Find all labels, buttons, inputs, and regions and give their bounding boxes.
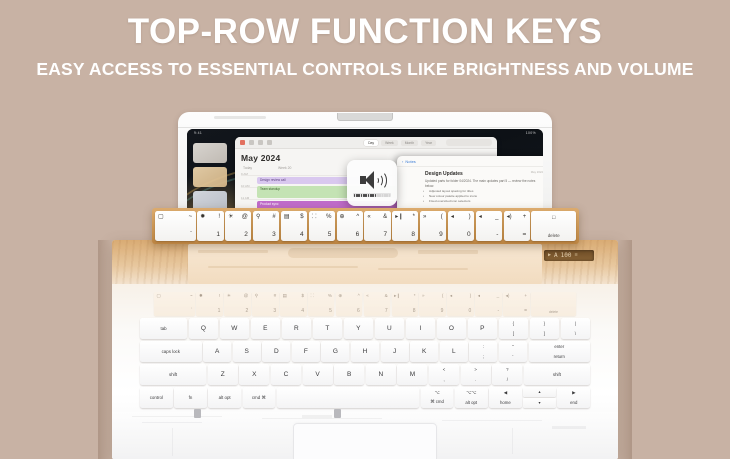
- key-k[interactable]: K: [410, 341, 438, 362]
- tablet-hinge: [337, 113, 393, 121]
- key-label: tab: [160, 326, 166, 331]
- volume-hud-overlay: [347, 160, 397, 206]
- fn-key-primary: 3: [272, 232, 276, 239]
- key-label: O: [449, 325, 454, 332]
- key-h[interactable]: H: [351, 341, 379, 362]
- key-label: P: [480, 325, 484, 332]
- battery-icon: ▶: [548, 253, 551, 258]
- key-y[interactable]: Y: [344, 318, 373, 339]
- fn-key-shifted: !: [218, 214, 220, 220]
- fn-key-esc[interactable]: ▢~`: [155, 211, 196, 241]
- notes-back-label[interactable]: Notes: [405, 159, 415, 164]
- fn-key-reflection-delete: delete: [531, 292, 576, 316]
- keyboard-deck-inner: [188, 244, 542, 284]
- key-label: alt opt: [219, 395, 231, 400]
- home-widget[interactable]: [193, 143, 227, 163]
- keyboard-base: ▶ A 100 ≡ ▢~`✹!1☀@2⚲#3▤$4⸬%5⊕^6«&7▸❙*8»(…: [112, 240, 618, 459]
- key-label: U: [387, 325, 392, 332]
- key-shifted-label: }: [530, 321, 559, 326]
- add-event-icon[interactable]: [267, 140, 272, 145]
- fn-key-reflection-spotlight: ⚲#3: [252, 292, 278, 316]
- fn-key-primary: =: [523, 232, 527, 239]
- key-v[interactable]: V: [303, 364, 333, 385]
- key-i[interactable]: I: [406, 318, 435, 339]
- keyboard-row-shift[interactable]: shiftZXCVBNM<,>.?/shift: [140, 364, 590, 385]
- key-p[interactable]: P: [468, 318, 497, 339]
- key-u[interactable]: U: [375, 318, 404, 339]
- key-label: Y: [356, 325, 360, 332]
- fn-key-shifted: ^: [356, 214, 359, 220]
- lcd-mode: A: [554, 253, 558, 259]
- brightness-high-icon: ☀: [228, 214, 233, 220]
- speaker-mute-icon: ◂: [451, 214, 454, 220]
- calendar-toolbar: Day Week Month Year: [235, 137, 497, 149]
- key-fn[interactable]: fn: [174, 387, 207, 408]
- fn-key-primary: 0: [467, 232, 471, 239]
- fn-key-play-pause[interactable]: ▸❙*8: [392, 211, 418, 241]
- key-primary-label: .: [461, 377, 491, 382]
- tab-month[interactable]: Month: [401, 140, 418, 146]
- tab-day[interactable]: Day: [364, 140, 378, 146]
- search-icon: ⚲: [256, 214, 260, 220]
- key--[interactable]: <,: [429, 364, 459, 385]
- arrow-key-cluster[interactable]: ▲▼: [523, 387, 556, 408]
- keyboard-internals: [112, 412, 618, 459]
- key-d[interactable]: D: [262, 341, 290, 362]
- page-subtitle: EASY ACCESS TO ESSENTIAL CONTROLS LIKE B…: [0, 58, 730, 80]
- deck-detail: [188, 244, 542, 284]
- key--[interactable]: ?/: [492, 364, 522, 385]
- fn-key-reflection-dictation: ⸬%5: [308, 292, 334, 316]
- microphone-icon: ⸬: [312, 214, 317, 220]
- key-label: M: [410, 371, 415, 378]
- key-shifted-label: {: [499, 321, 528, 326]
- key-label: R: [294, 325, 299, 332]
- key--[interactable]: {[: [499, 318, 528, 339]
- keyboard-row-home[interactable]: caps lockASDFGHJKL:;"'enterreturn: [140, 341, 590, 362]
- key-shifted-label: <: [429, 367, 459, 372]
- key-label: K: [422, 348, 426, 355]
- key--[interactable]: }]: [530, 318, 559, 339]
- key-x[interactable]: X: [239, 364, 269, 385]
- display-mirror-icon: ▢: [158, 214, 164, 220]
- volume-segment: [386, 194, 388, 197]
- list-view-icon[interactable]: [258, 140, 263, 145]
- notes-bullet: Fixed oversized icon selectors: [397, 199, 543, 204]
- key-primary-label: ,: [429, 377, 459, 382]
- key-t[interactable]: T: [313, 318, 342, 339]
- brightness-low-icon: ✹: [200, 214, 205, 220]
- volume-up-icon: ◂): [507, 214, 512, 220]
- key-label: cmd ⌘: [252, 395, 266, 401]
- key-label: A: [215, 348, 219, 355]
- key-label: caps lock: [162, 349, 180, 354]
- fn-key-reflection-previous-track: «&7: [364, 292, 390, 316]
- rewind-icon: «: [367, 214, 370, 220]
- fn-key-label: delete: [531, 233, 576, 238]
- key-control[interactable]: control: [140, 387, 173, 408]
- key-a[interactable]: A: [203, 341, 231, 362]
- fn-key-shifted: +: [523, 214, 527, 220]
- home-widget[interactable]: [193, 167, 227, 187]
- fn-key-brightness-up[interactable]: ☀@2: [225, 211, 251, 241]
- fn-key-shifted: (: [441, 214, 443, 220]
- key-label: fn: [189, 395, 193, 400]
- fn-key-primary: 6: [356, 232, 360, 239]
- calendar-app-icon[interactable]: [240, 140, 245, 145]
- menu-icon: ≡: [574, 253, 577, 258]
- fn-key-brightness-down[interactable]: ✹!1: [197, 211, 223, 241]
- fn-key-primary: 1: [216, 232, 220, 239]
- key-return[interactable]: enterreturn: [529, 341, 591, 362]
- key-shifted-label: ": [499, 344, 527, 349]
- notes-toolbar: ‹ Notes: [397, 156, 543, 167]
- key-end[interactable]: ▶end: [557, 387, 590, 408]
- key-b[interactable]: B: [334, 364, 364, 385]
- calendar-view-tabs[interactable]: Day Week Month Year: [364, 140, 436, 146]
- key-primary-label: [: [499, 331, 528, 336]
- fn-key-primary: 2: [244, 232, 248, 239]
- key-label: L: [452, 348, 456, 355]
- fn-key-primary: 4: [300, 232, 304, 239]
- key-tab[interactable]: tab: [140, 318, 187, 339]
- key-label: B: [347, 371, 351, 378]
- key--[interactable]: >.: [461, 364, 491, 385]
- key-label: V: [315, 371, 319, 378]
- key-r[interactable]: R: [282, 318, 311, 339]
- key--[interactable]: "': [499, 341, 527, 362]
- key-home[interactable]: ◀home: [489, 387, 522, 408]
- fn-key-reflection-next-track: »(9: [419, 292, 445, 316]
- fn-key-delete[interactable]: □delete: [531, 211, 576, 241]
- volume-segment: [389, 194, 391, 197]
- fn-key-primary: 8: [411, 232, 415, 239]
- back-chevron-icon[interactable]: ‹: [402, 159, 403, 164]
- key-g[interactable]: G: [321, 341, 349, 362]
- key-c[interactable]: C: [271, 364, 301, 385]
- calendar-sub-mid: Week 20: [278, 166, 291, 170]
- key-key[interactable]: [277, 387, 420, 408]
- key-shifted-label: :: [469, 344, 497, 349]
- key-primary-label: ;: [469, 354, 497, 359]
- calendar-hour-label: 10 AM: [241, 184, 250, 188]
- key-alt-opt[interactable]: ⌥⌥alt opt: [455, 387, 488, 408]
- key--[interactable]: :;: [469, 341, 497, 362]
- status-bar: 9:41 100%: [187, 129, 543, 137]
- key-label: shift: [553, 372, 561, 377]
- key-label: D: [274, 348, 279, 355]
- volume-level-bar: [353, 193, 391, 197]
- fn-key-previous-track[interactable]: «&7: [364, 211, 390, 241]
- key-m[interactable]: M: [397, 364, 427, 385]
- fn-key-shifted: #: [272, 214, 275, 220]
- key-w[interactable]: W: [220, 318, 249, 339]
- key-s[interactable]: S: [233, 341, 261, 362]
- key-shifted-label: |: [561, 321, 590, 326]
- fn-key-shifted: _: [495, 214, 498, 220]
- key-primary-label: end: [557, 400, 590, 405]
- hinge-nub: [334, 409, 341, 418]
- fn-key-mute[interactable]: ◂)0: [448, 211, 474, 241]
- tab-year[interactable]: Year: [421, 140, 436, 146]
- key--cmd[interactable]: ⌥⌘ cmd: [421, 387, 454, 408]
- base-shadow-left: [98, 240, 112, 459]
- trackpad[interactable]: [294, 424, 436, 459]
- keyboard-icon: ▤: [284, 214, 290, 220]
- key-f[interactable]: F: [292, 341, 320, 362]
- keyboard-row-qwerty[interactable]: tabQWERTYUIOP{[}]|\: [140, 318, 590, 339]
- tab-week[interactable]: Week: [381, 140, 398, 146]
- key-label: Q: [201, 325, 206, 332]
- fn-key-shifted: ): [469, 214, 471, 220]
- sidebar-toggle-icon[interactable]: [249, 140, 254, 145]
- tablet-edge-detail: [214, 116, 266, 119]
- key-n[interactable]: N: [366, 364, 396, 385]
- key-primary-label: ⌘ cmd: [421, 399, 454, 405]
- fn-key-reflection-esc: ▢~`: [154, 292, 195, 316]
- key-shifted-label: >: [461, 367, 491, 372]
- key-label: N: [378, 371, 383, 378]
- key-shift[interactable]: shift: [140, 364, 206, 385]
- key-cmd-[interactable]: cmd ⌘: [243, 387, 276, 408]
- volume-segment: [372, 194, 374, 197]
- calendar-hour-label: 9 AM: [241, 172, 248, 176]
- fn-key-shifted: ~: [189, 214, 193, 220]
- key-o[interactable]: O: [437, 318, 466, 339]
- status-battery: 100%: [526, 131, 536, 135]
- calendar-hour-label: 11 AM: [241, 196, 249, 200]
- key-label: H: [363, 348, 368, 355]
- key-primary-label: ]: [530, 331, 559, 336]
- key-label: F: [304, 348, 308, 355]
- fn-key-reflection-volume-down: ◂_-: [475, 292, 501, 316]
- page-title: TOP-ROW FUNCTION KEYS: [0, 14, 730, 51]
- fn-key-reflection-brightness-down: ✹!1: [196, 292, 222, 316]
- key--[interactable]: |\: [561, 318, 590, 339]
- key-q[interactable]: Q: [189, 318, 218, 339]
- key-j[interactable]: J: [381, 341, 409, 362]
- key-shift[interactable]: shift: [524, 364, 590, 385]
- tablet-seam: [178, 127, 552, 128]
- key-label: S: [245, 348, 249, 355]
- fn-key-volume-up[interactable]: ◂)+=: [504, 211, 530, 241]
- device-stage: 9:41 100% Day Week Mo: [0, 112, 730, 459]
- key-primary-label: ': [499, 354, 527, 359]
- key-label: W: [231, 325, 237, 332]
- status-time: 9:41: [194, 131, 202, 135]
- fn-key-shifted: $: [300, 214, 303, 220]
- notes-heading: Design Updates: [397, 167, 543, 177]
- fn-key-primary: -: [496, 232, 498, 239]
- arrow-up-key[interactable]: ▲: [523, 387, 556, 397]
- tablet-device: 9:41 100% Day Week Mo: [178, 112, 552, 222]
- fn-key-reflection-volume-up: ◂)+=: [503, 292, 529, 316]
- key-label: Z: [221, 371, 225, 378]
- key-shifted-label: ◀: [489, 390, 522, 396]
- notes-meta: May 2024: [531, 170, 543, 174]
- fn-key-globe[interactable]: ⊕^6: [337, 211, 363, 241]
- fn-key-keyboard-backlight[interactable]: ▤$4: [281, 211, 307, 241]
- key-label: T: [325, 325, 329, 332]
- key-primary-label: return: [529, 354, 591, 359]
- fn-key-next-track[interactable]: »(9: [420, 211, 446, 241]
- fn-key-shifted: &: [383, 214, 387, 220]
- key-shifted-label: ▶: [557, 390, 590, 396]
- key-alt-opt[interactable]: alt opt: [208, 387, 241, 408]
- status-lcd-display: ▶ A 100 ≡: [544, 250, 594, 261]
- fn-key-reflection-keyboard-backlight: ▤$4: [280, 292, 306, 316]
- volume-down-icon: ◂: [479, 214, 482, 220]
- key-label: E: [263, 325, 267, 332]
- key-z[interactable]: Z: [208, 364, 238, 385]
- key-label: control: [150, 395, 163, 400]
- key-e[interactable]: E: [251, 318, 280, 339]
- fn-key-primary: 7: [383, 232, 387, 239]
- fn-key-shifted: @: [242, 214, 248, 220]
- fn-key-primary: 9: [439, 232, 443, 239]
- key-label: X: [252, 371, 256, 378]
- key-primary-label: /: [492, 377, 522, 382]
- header-banner: TOP-ROW FUNCTION KEYS EASY ACCESS TO ESS…: [0, 0, 730, 80]
- calendar-sub-left: Today: [243, 166, 252, 170]
- key-label: C: [284, 371, 289, 378]
- function-row-reflection: ▢~`✹!1☀@2⚲#3▤$4⸬%5⊕^6«&7▸❙*8»(9◂)0◂_-◂)+…: [154, 292, 576, 316]
- fn-key-shifted: *: [413, 214, 415, 220]
- key-caps-lock[interactable]: caps lock: [140, 341, 202, 362]
- key-label: I: [419, 325, 421, 332]
- key-primary-label: alt opt: [455, 400, 488, 405]
- key-label: J: [393, 348, 396, 355]
- fn-key-dictation[interactable]: ⸬%5: [309, 211, 335, 241]
- function-key-row-highlight[interactable]: ▢~`✹!1☀@2⚲#3▤$4⸬%5⊕^6«&7▸❙*8»(9◂)0◂_-◂)+…: [152, 208, 579, 244]
- key-label: shift: [169, 372, 177, 377]
- volume-segment: [379, 194, 381, 197]
- fn-key-primary: `: [190, 232, 192, 239]
- key-shifted-label: ⌥⌥: [455, 390, 488, 396]
- speaker-volume-icon: [359, 169, 385, 191]
- keyboard-row-bottom[interactable]: controlfnalt optcmd ⌘⌥⌘ cmd⌥⌥alt opt◀hom…: [140, 387, 590, 408]
- key-primary-label: \: [561, 331, 590, 336]
- notes-paragraph: Updated parts for folder 04/2024. The ma…: [397, 177, 543, 189]
- globe-icon: ⊕: [340, 214, 345, 220]
- fn-key-reflection-brightness-up: ☀@2: [224, 292, 250, 316]
- fn-key-spotlight[interactable]: ⚲#3: [253, 211, 279, 241]
- fn-key-reflection-globe: ⊕^6: [336, 292, 362, 316]
- lcd-value: 100: [561, 253, 572, 259]
- key-shifted-label: ?: [492, 367, 522, 372]
- base-shadow-right: [618, 240, 632, 459]
- volume-segment: [365, 194, 367, 197]
- key-shifted-label: ⌥: [421, 390, 454, 396]
- volume-segment: [354, 194, 356, 197]
- key-label: G: [333, 348, 338, 355]
- key-shifted-label: enter: [529, 344, 591, 349]
- fn-key-shifted: %: [326, 214, 331, 220]
- key-primary-label: home: [489, 400, 522, 405]
- fn-key-reflection-play-pause: ▸❙*8: [392, 292, 418, 316]
- fn-key-reflection-mute: ◂)0: [447, 292, 473, 316]
- fast-forward-icon: »: [423, 214, 426, 220]
- fn-key-volume-down[interactable]: ◂_-: [476, 211, 502, 241]
- hinge-nub: [194, 409, 201, 418]
- volume-segment: [358, 194, 360, 197]
- play-pause-icon: ▸❙: [395, 214, 403, 220]
- key-l[interactable]: L: [440, 341, 468, 362]
- arrow-down-key[interactable]: ▼: [523, 398, 556, 408]
- lock-icon: □: [531, 215, 576, 221]
- calendar-search-input[interactable]: [446, 139, 492, 146]
- fn-key-primary: 5: [328, 232, 332, 239]
